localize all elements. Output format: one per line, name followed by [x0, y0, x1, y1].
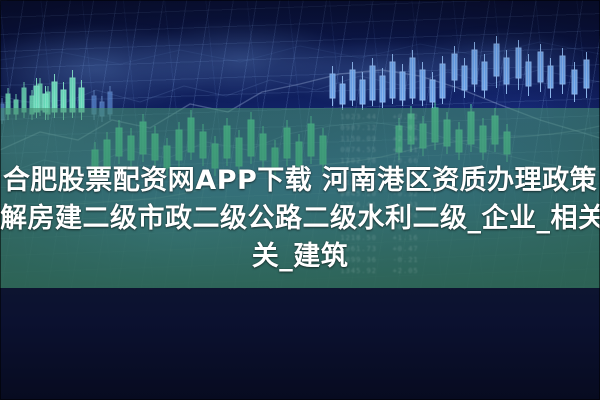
banner-image: 1023.44 +0.82 0987.12 -1.07 1150.09 +2.1…	[0, 0, 600, 400]
headline-line-1: 合肥股票配资网APP下载 河南港区资质办理政策	[0, 167, 600, 194]
overlay-band-bottom	[0, 288, 600, 400]
headline-line-3: 关_建筑	[0, 243, 600, 270]
overlay-band-top	[0, 0, 600, 108]
headline-line-2: 解房建二级市政二级公路二级水利二级_企业_相关_建	[0, 205, 600, 232]
